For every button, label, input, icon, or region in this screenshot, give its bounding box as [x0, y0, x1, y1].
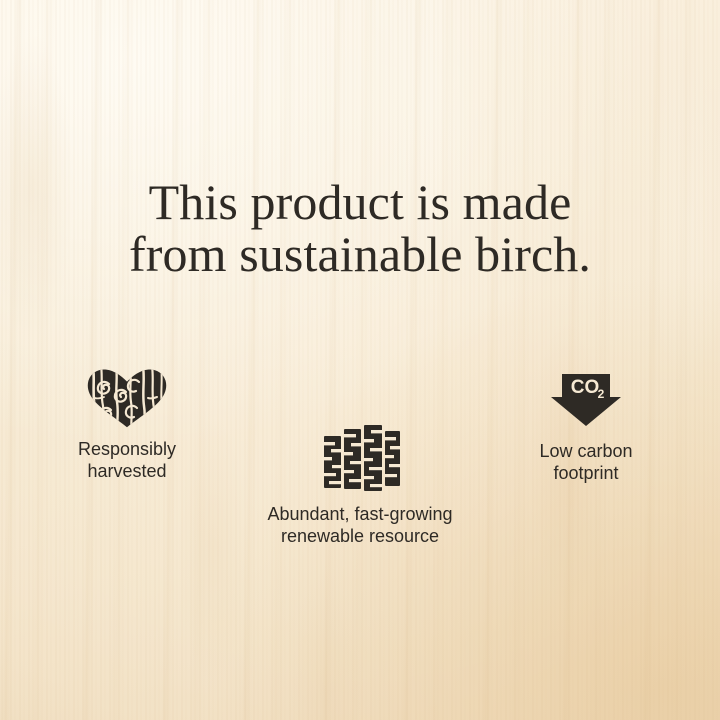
co2-down-arrow-icon: CO 2 [506, 366, 666, 426]
badge-low-carbon-footprint: CO 2 Low carbon footprint [506, 366, 666, 484]
birch-bark-bars-icon [233, 420, 487, 494]
panel-content: This product is made from sustainable bi… [0, 0, 720, 720]
badge-responsibly-harvested: Responsibly harvested [47, 362, 207, 482]
badge-caption: Responsibly harvested [47, 438, 207, 482]
co2-label: CO [571, 377, 600, 398]
co2-subscript: 2 [598, 387, 605, 401]
sustainable-birch-panel: This product is made from sustainable bi… [0, 0, 720, 720]
badge-caption: Low carbon footprint [506, 440, 666, 484]
badge-renewable-resource: Abundant, fast-growing renewable resourc… [233, 420, 487, 547]
badge-caption: Abundant, fast-growing renewable resourc… [233, 503, 487, 547]
headline: This product is made from sustainable bi… [0, 176, 720, 280]
wood-grain-heart-icon [47, 362, 207, 428]
